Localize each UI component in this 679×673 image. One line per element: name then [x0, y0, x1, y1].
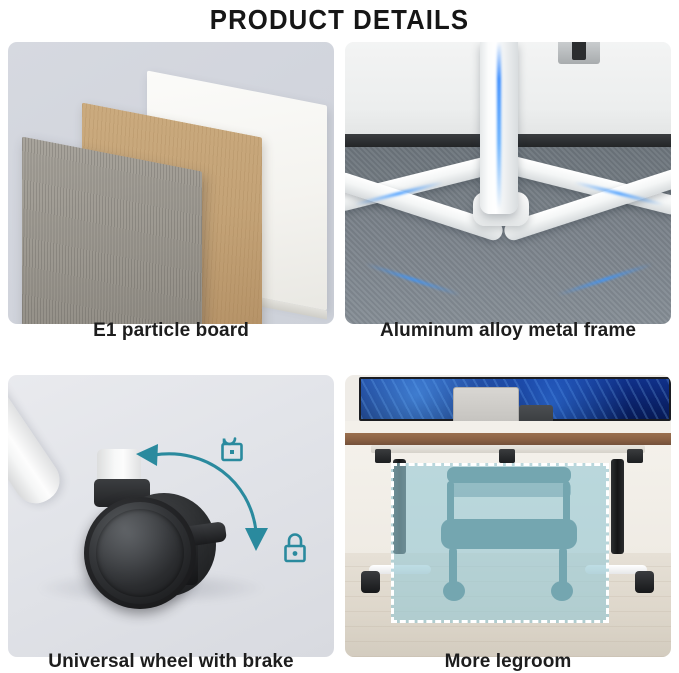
desk-bracket-left — [375, 449, 391, 463]
legroom-photo — [345, 375, 671, 657]
desk-caster-left — [361, 571, 380, 593]
panel-caption-metal-frame: Aluminum alloy metal frame — [345, 320, 671, 342]
panel-grid: E1 particle board Aluminum al — [8, 42, 671, 667]
desk-leg-tube — [8, 375, 68, 512]
panel-caster-wheel: Universal wheel with brake — [8, 375, 334, 667]
panel-legroom: More legroom — [345, 375, 671, 667]
legroom-highlight-area — [391, 463, 609, 623]
curved-double-arrow-icon — [132, 427, 282, 562]
desk-bracket-right — [627, 449, 643, 463]
lock-icon — [280, 530, 310, 569]
desk-leg-right — [611, 459, 624, 554]
panel-caption-particle-board: E1 particle board — [8, 320, 334, 342]
particle-board-photo — [8, 42, 334, 324]
product-details-infographic: PRODUCT DETAILS E1 particle board — [0, 0, 679, 673]
panel-caption-caster-wheel: Universal wheel with brake — [8, 651, 334, 673]
desk-top-surface — [345, 433, 671, 445]
panel-caption-legroom: More legroom — [345, 651, 671, 673]
frame-column-glow — [497, 42, 501, 210]
panel-metal-frame: Aluminum alloy metal frame — [345, 42, 671, 334]
page-title: PRODUCT DETAILS — [27, 0, 652, 40]
desk-caster-right — [635, 571, 654, 593]
metal-frame-photo — [345, 42, 671, 324]
panel-particle-board: E1 particle board — [8, 42, 334, 334]
caster-wheel-photo — [8, 375, 334, 657]
socket-module — [558, 42, 600, 64]
